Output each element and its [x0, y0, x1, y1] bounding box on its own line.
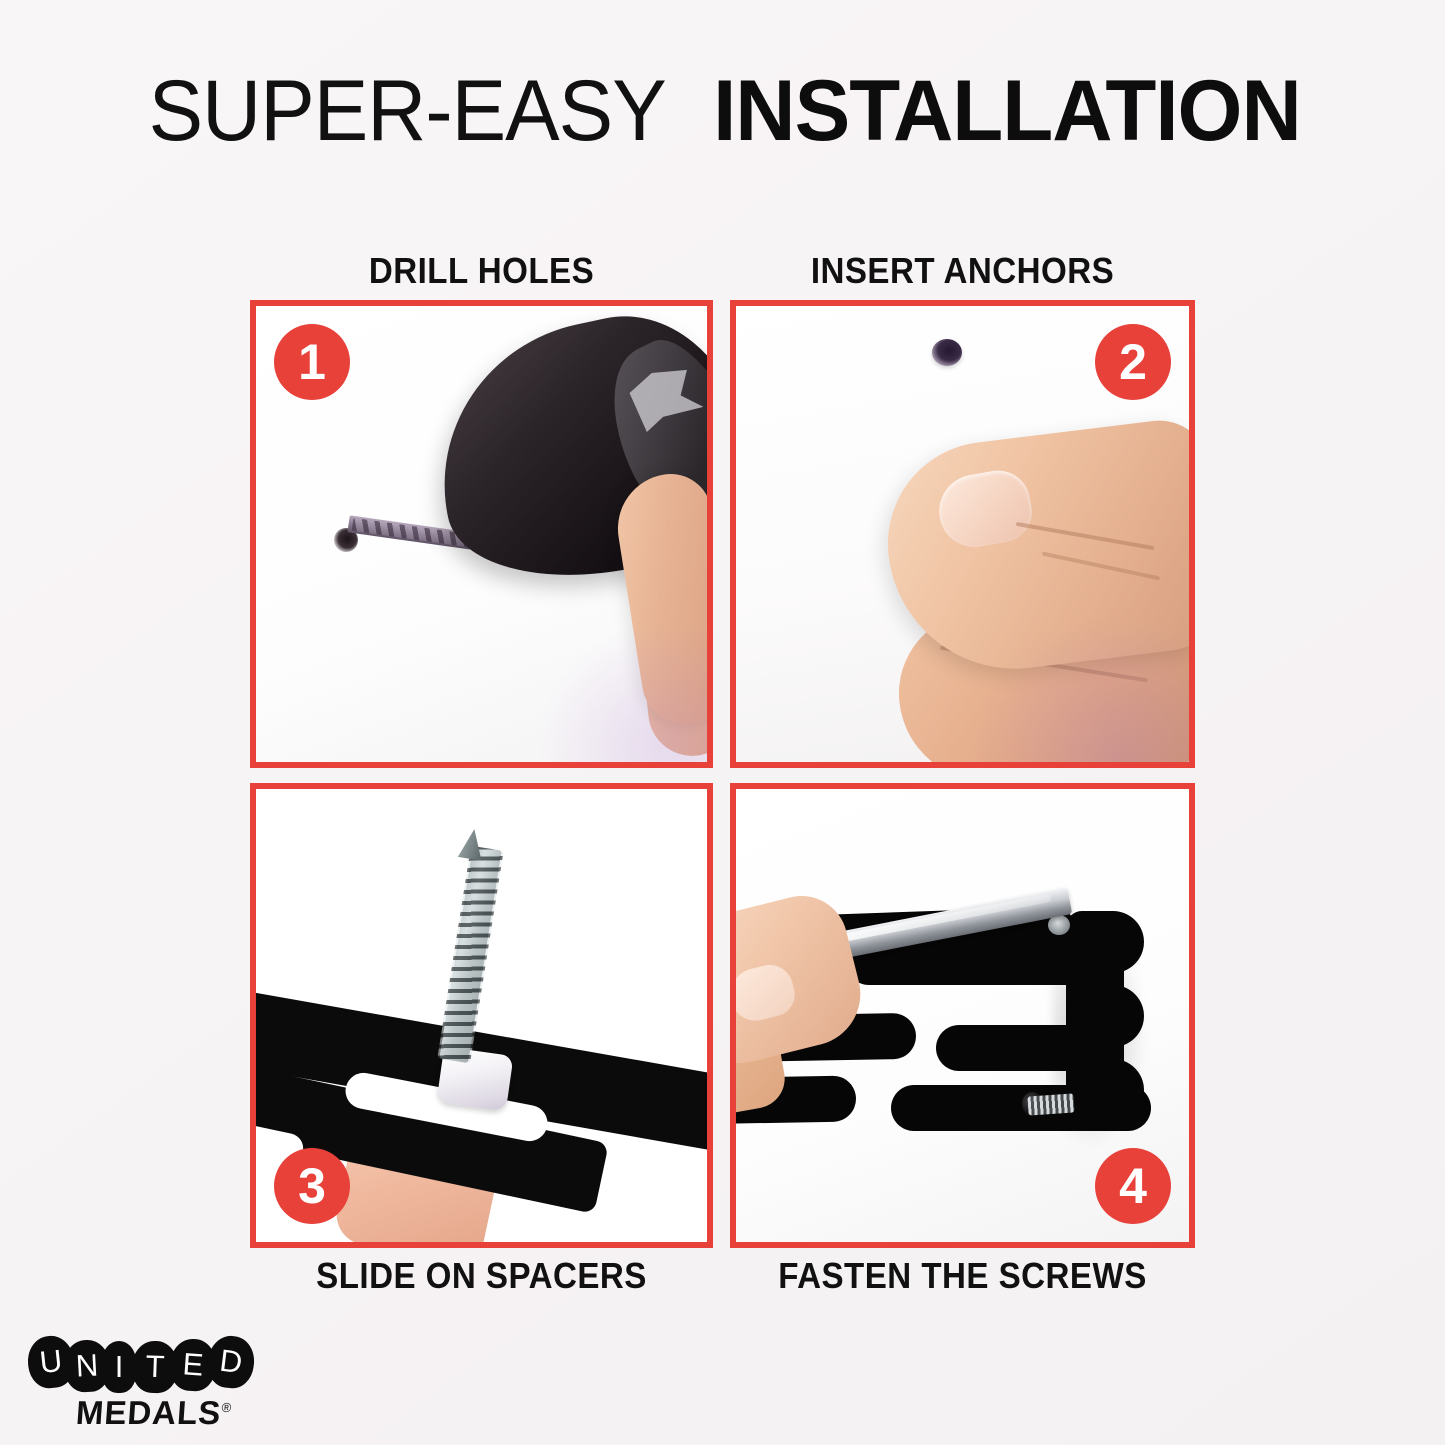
drilled-hole-icon [932, 339, 962, 366]
step-caption-2: INSERT ANCHORS [749, 250, 1177, 292]
step-panel-3: 3 [250, 783, 713, 1248]
logo-letter-tile: D [205, 1333, 257, 1390]
installation-infographic: SUPER-EASYINSTALLATION DRILL HOLES INSER… [0, 0, 1445, 1445]
hanger-bar [891, 1085, 1151, 1131]
step-badge-4: 4 [1095, 1148, 1171, 1224]
step-panel-4: 4 [730, 783, 1195, 1248]
step-badge-2: 2 [1095, 324, 1171, 400]
logo-united-tiles: U N I T E D [28, 1336, 278, 1392]
step-badge-1: 1 [274, 324, 350, 400]
page-title-light: SUPER-EASY [149, 62, 666, 161]
logo-medals-text: MEDALS [75, 1394, 223, 1431]
logo-letter-tile: I [102, 1341, 136, 1393]
step-panel-1: 1 [250, 300, 713, 768]
page-title: SUPER-EASYINSTALLATION [0, 62, 1445, 161]
step-caption-1: DRILL HOLES [269, 250, 695, 292]
step-panel-2: 2 [730, 300, 1195, 768]
step-badge-3: 3 [274, 1148, 350, 1224]
photo-tint [969, 612, 1189, 762]
step-caption-3: SLIDE ON SPACERS [269, 1255, 695, 1297]
page-title-bold: INSTALLATION [713, 62, 1301, 161]
photo-tint [537, 622, 707, 762]
registered-trademark-icon: ® [221, 1400, 233, 1415]
brand-logo: U N I T E D MEDALS® [28, 1336, 278, 1436]
logo-medals-word: MEDALS® [75, 1394, 234, 1432]
mounting-screw-head [1048, 915, 1070, 935]
screw-threads [1027, 1093, 1074, 1115]
step-caption-4: FASTEN THE SCREWS [749, 1255, 1177, 1297]
hanger-bar [936, 1025, 1111, 1071]
